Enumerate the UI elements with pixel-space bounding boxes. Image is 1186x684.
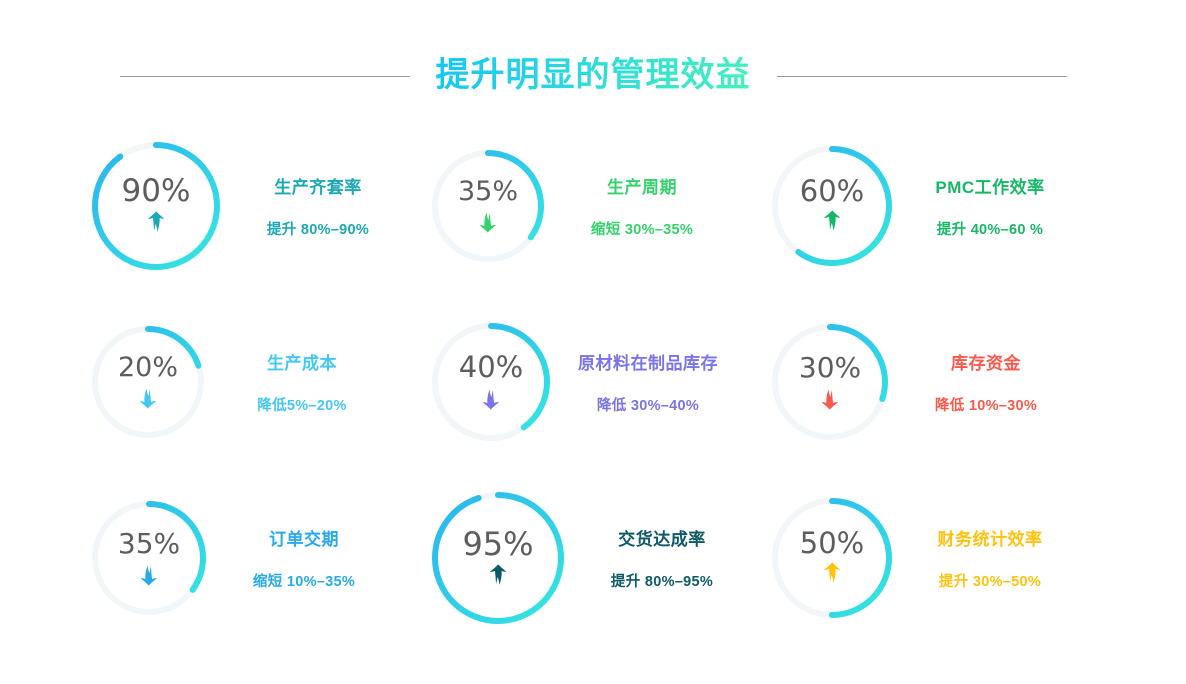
dial-center: 35% (92, 501, 206, 615)
metric-delta: 缩短 30%–35% (591, 218, 693, 239)
metric-delta: 降低 10%–30% (935, 394, 1037, 415)
metric-delta: 降低 30%–40% (597, 394, 699, 415)
header-rule-left (120, 76, 410, 77)
dial-center: 90% (92, 142, 220, 270)
metric-name: 交货达成率 (618, 525, 706, 550)
metric-delta: 缩短 10%–35% (253, 570, 355, 591)
arrow-up-icon (822, 209, 842, 235)
metric-name: 生产周期 (607, 173, 677, 198)
page-header: 提升明显的管理效益 (0, 48, 1186, 104)
arrow-down-icon (478, 208, 498, 234)
dial-value: 60% (800, 177, 864, 206)
metric-labels: PMC工作效率提升 40%–60 % (900, 173, 1080, 239)
progress-dial: 60% (772, 146, 892, 266)
arrow-up-icon (488, 563, 508, 589)
progress-dial: 35% (92, 501, 206, 615)
dial-center: 50% (772, 498, 892, 618)
metric-name: 原材料在制品库存 (578, 349, 718, 374)
progress-dial: 30% (772, 324, 888, 440)
metric-name: 订单交期 (269, 525, 339, 550)
metric-name: 库存资金 (951, 349, 1021, 374)
dial-value: 35% (118, 530, 180, 558)
metric-delta: 提升 30%–50% (939, 570, 1041, 591)
dial-value: 40% (459, 353, 523, 382)
dial-center: 60% (772, 146, 892, 266)
arrow-down-icon (820, 385, 840, 411)
metric-card: 50%财务统计效率提升 30%–50% (772, 470, 1102, 646)
metric-name: 生产齐套率 (274, 173, 362, 198)
metric-labels: 生产成本降低5%–20% (212, 349, 392, 415)
progress-dial: 40% (432, 323, 550, 441)
metric-labels: 生产周期缩短 30%–35% (552, 173, 732, 239)
arrow-up-icon (822, 561, 842, 587)
arrow-down-icon (139, 561, 159, 587)
metric-card: 35%订单交期缩短 10%–35% (92, 470, 422, 646)
arrow-down-icon (138, 384, 158, 410)
progress-dial: 90% (92, 142, 220, 270)
metric-delta: 提升 80%–95% (611, 570, 713, 591)
metric-name: PMC工作效率 (935, 173, 1044, 198)
metric-delta: 降低5%–20% (257, 394, 346, 415)
metric-delta: 提升 40%–60 % (937, 218, 1043, 239)
metric-labels: 生产齐套率提升 80%–90% (228, 173, 408, 239)
dial-center: 30% (772, 324, 888, 440)
metric-labels: 原材料在制品库存降低 30%–40% (558, 349, 738, 415)
metric-card: 30%库存资金降低 10%–30% (772, 294, 1102, 470)
dial-center: 40% (432, 323, 550, 441)
dial-value: 20% (118, 354, 178, 381)
metrics-grid: 90%生产齐套率提升 80%–90%35%生产周期缩短 30%–35%60%PM… (92, 118, 1102, 646)
dial-value: 35% (458, 178, 518, 205)
page-title: 提升明显的管理效益 (436, 57, 751, 94)
progress-dial: 95% (432, 492, 564, 624)
header-rule-right (777, 76, 1067, 77)
metric-labels: 财务统计效率提升 30%–50% (900, 525, 1080, 591)
metric-card: 40%原材料在制品库存降低 30%–40% (432, 294, 762, 470)
arrow-up-icon (146, 210, 166, 236)
dial-center: 35% (432, 150, 544, 262)
metric-card: 35%生产周期缩短 30%–35% (432, 118, 762, 294)
progress-dial: 20% (92, 326, 204, 438)
metric-name: 生产成本 (267, 349, 337, 374)
arrow-down-icon (481, 385, 501, 411)
dial-value: 90% (122, 176, 191, 207)
dial-value: 30% (799, 354, 861, 382)
metric-card: 90%生产齐套率提升 80%–90% (92, 118, 422, 294)
metric-card: 20%生产成本降低5%–20% (92, 294, 422, 470)
metric-labels: 交货达成率提升 80%–95% (572, 525, 752, 591)
metric-card: 95%交货达成率提升 80%–95% (432, 470, 762, 646)
progress-dial: 35% (432, 150, 544, 262)
metric-labels: 订单交期缩短 10%–35% (214, 525, 394, 591)
metric-name: 财务统计效率 (938, 525, 1043, 550)
dial-value: 50% (800, 529, 864, 558)
dial-value: 95% (462, 528, 533, 560)
progress-dial: 50% (772, 498, 892, 618)
metric-labels: 库存资金降低 10%–30% (896, 349, 1076, 415)
metric-card: 60%PMC工作效率提升 40%–60 % (772, 118, 1102, 294)
metric-delta: 提升 80%–90% (267, 218, 369, 239)
dial-center: 20% (92, 326, 204, 438)
dial-center: 95% (432, 492, 564, 624)
